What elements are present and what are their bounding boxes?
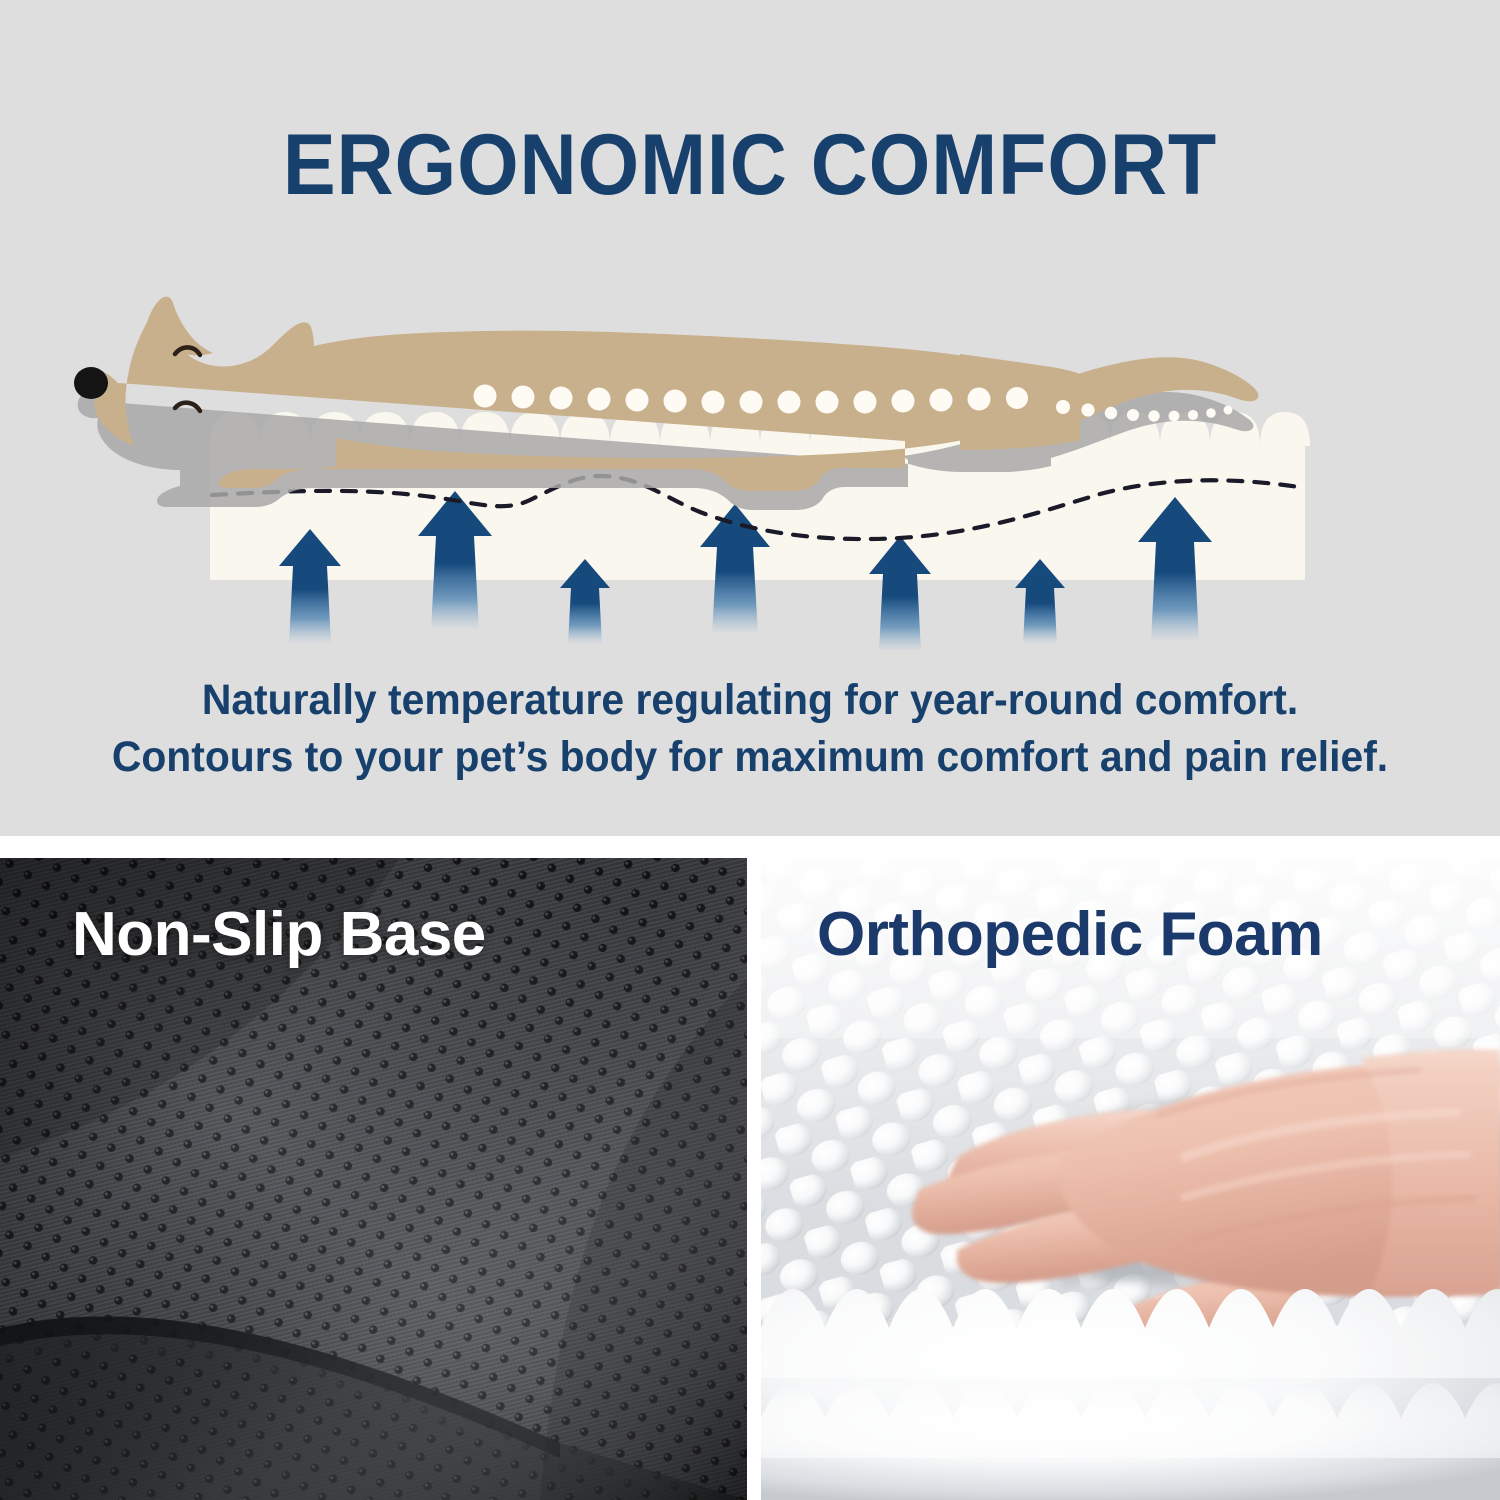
caption-line-2: Contours to your pet’s body for maximum … <box>38 729 1463 786</box>
feature-panel-non-slip-base: Non-Slip Base <box>0 858 747 1500</box>
feature-panel-orthopedic-foam: Orthopedic Foam <box>761 858 1500 1500</box>
caption-line-1: Naturally temperature regulating for yea… <box>38 672 1463 729</box>
foam-foreground-peaks <box>761 1289 1500 1500</box>
dog-on-foam-illustration <box>0 250 1500 650</box>
caption-block: Naturally temperature regulating for yea… <box>0 672 1500 786</box>
dog-nose <box>74 367 108 399</box>
panel-label-non-slip-base: Non-Slip Base <box>72 904 486 966</box>
panel-divider-vertical <box>747 836 761 1500</box>
page-title: ERGONOMIC COMFORT <box>60 122 1440 208</box>
panel-label-orthopedic-foam: Orthopedic Foam <box>817 904 1323 966</box>
ergonomic-comfort-section: ERGONOMIC COMFORT <box>0 0 1500 836</box>
